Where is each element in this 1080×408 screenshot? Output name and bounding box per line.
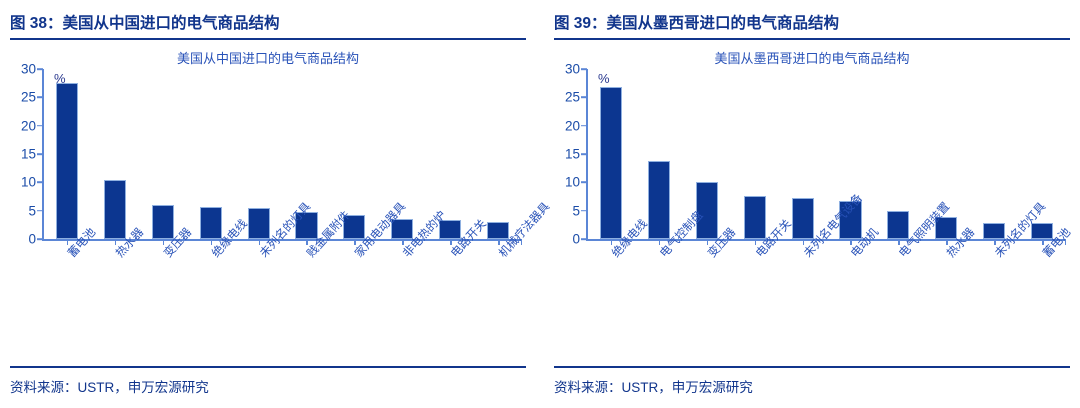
chart-area-39: 美国从墨西哥进口的电气商品结构 % 051015202530 绝缘电线电气控制盘… xyxy=(554,40,1070,366)
source-note-38: 资料来源：USTR，申万宏源研究 xyxy=(10,376,526,396)
bar xyxy=(600,87,622,239)
figure-header-38: 图 38：美国从中国进口的电气商品结构 xyxy=(10,0,526,40)
x-label-cell: 未列名的灯具 xyxy=(235,247,283,352)
x-label-cell: 电气照明装置 xyxy=(874,247,922,352)
footer-divider-38 xyxy=(10,366,526,368)
figure-header-39: 图 39：美国从墨西哥进口的电气商品结构 xyxy=(554,0,1070,40)
plot-38: % 051015202530 蓄电池热水器变压器绝缘电线未列名的灯具贱金属附件家… xyxy=(10,69,526,254)
bar-column xyxy=(91,69,139,239)
bar-column xyxy=(587,69,635,239)
x-label-cell: 蓄电池 xyxy=(1018,247,1066,352)
bar-column xyxy=(474,69,522,239)
y-tick-label: 30 xyxy=(21,62,36,76)
chart-title-38: 美国从中国进口的电气商品结构 xyxy=(10,40,526,67)
figure-footer-39: 资料来源：USTR，申万宏源研究 xyxy=(554,366,1070,408)
bar xyxy=(887,211,909,239)
bar-column xyxy=(139,69,187,239)
figure-panel-39: 图 39：美国从墨西哥进口的电气商品结构 美国从墨西哥进口的电气商品结构 % 0… xyxy=(540,0,1080,408)
x-label-cell: 未列名电气设备 xyxy=(779,247,827,352)
y-tick-mark xyxy=(37,125,43,127)
x-label-cell: 电路开关 xyxy=(731,247,779,352)
y-tick-label: 15 xyxy=(21,147,36,161)
bar xyxy=(152,205,174,239)
x-label-cell: 非电热的炉 xyxy=(378,247,426,352)
figure-panel-38: 图 38：美国从中国进口的电气商品结构 美国从中国进口的电气商品结构 % 051… xyxy=(0,0,540,408)
bar-column xyxy=(187,69,235,239)
x-axis-labels-38: 蓄电池热水器变压器绝缘电线未列名的灯具贱金属附件家用电动器具非电热的炉电路开关机… xyxy=(43,247,522,352)
y-tick-label: 20 xyxy=(565,119,580,133)
x-label-cell: 绝缘电线 xyxy=(187,247,235,352)
bar-series-38 xyxy=(43,69,522,239)
y-axis-labels-38: 051015202530 xyxy=(10,69,36,239)
y-tick-label: 5 xyxy=(572,204,580,218)
y-tick-mark xyxy=(37,238,43,240)
y-tick-label: 0 xyxy=(28,232,36,246)
x-label-cell: 热水器 xyxy=(922,247,970,352)
footer-divider-39 xyxy=(554,366,1070,368)
bar xyxy=(248,208,270,239)
y-tick-mark xyxy=(581,125,587,127)
bar-column xyxy=(779,69,827,239)
y-axis-labels-39: 051015202530 xyxy=(554,69,580,239)
bar xyxy=(744,196,766,239)
bar-column xyxy=(235,69,283,239)
x-axis-labels-39: 绝缘电线电气控制盘变压器电路开关未列名电气设备电动机电气照明装置热水器未列名的灯… xyxy=(587,247,1066,352)
bar xyxy=(104,180,126,240)
bar xyxy=(792,198,814,239)
source-note-39: 资料来源：USTR，申万宏源研究 xyxy=(554,376,1070,396)
x-label-cell: 家用电动器具 xyxy=(330,247,378,352)
x-label-cell: 绝缘电线 xyxy=(587,247,635,352)
x-label-cell: 蓄电池 xyxy=(43,247,91,352)
x-label-cell: 电路开关 xyxy=(426,247,474,352)
plot-39: % 051015202530 绝缘电线电气控制盘变压器电路开关未列名电气设备电动… xyxy=(554,69,1070,254)
y-tick-mark xyxy=(581,97,587,99)
y-tick-label: 0 xyxy=(572,232,580,246)
y-tick-mark xyxy=(37,182,43,184)
y-tick-label: 5 xyxy=(28,204,36,218)
y-tick-label: 30 xyxy=(565,62,580,76)
x-label-cell: 电动机 xyxy=(827,247,875,352)
bar-column xyxy=(874,69,922,239)
y-tick-mark xyxy=(581,210,587,212)
chart-area-38: 美国从中国进口的电气商品结构 % 051015202530 蓄电池热水器变压器绝… xyxy=(10,40,526,366)
y-tick-label: 15 xyxy=(565,147,580,161)
y-tick-label: 10 xyxy=(21,176,36,190)
y-tick-mark xyxy=(581,182,587,184)
bar-series-39 xyxy=(587,69,1066,239)
x-label-cell: 未列名的灯具 xyxy=(970,247,1018,352)
bar-column xyxy=(43,69,91,239)
x-label-cell: 变压器 xyxy=(683,247,731,352)
x-label-cell: 电气控制盘 xyxy=(635,247,683,352)
y-tick-mark xyxy=(37,210,43,212)
bar xyxy=(200,207,222,239)
x-label-cell: 变压器 xyxy=(139,247,187,352)
x-label-cell: 热水器 xyxy=(91,247,139,352)
bar-column xyxy=(731,69,779,239)
y-tick-mark xyxy=(581,68,587,70)
figure-row: 图 38：美国从中国进口的电气商品结构 美国从中国进口的电气商品结构 % 051… xyxy=(0,0,1080,408)
x-label-cell: 贱金属附件 xyxy=(283,247,331,352)
y-tick-label: 20 xyxy=(21,119,36,133)
bar-column xyxy=(635,69,683,239)
bar xyxy=(648,161,670,239)
figure-title-39: 图 39：美国从墨西哥进口的电气商品结构 xyxy=(554,11,1070,38)
figure-footer-38: 资料来源：USTR，申万宏源研究 xyxy=(10,366,526,408)
y-tick-label: 25 xyxy=(21,91,36,105)
figure-title-38: 图 38：美国从中国进口的电气商品结构 xyxy=(10,11,526,38)
y-tick-mark xyxy=(581,153,587,155)
bar-column xyxy=(970,69,1018,239)
y-tick-label: 10 xyxy=(565,176,580,190)
y-tick-mark xyxy=(37,153,43,155)
bar xyxy=(56,83,78,239)
chart-title-39: 美国从墨西哥进口的电气商品结构 xyxy=(554,40,1070,67)
y-tick-mark xyxy=(581,238,587,240)
y-tick-mark xyxy=(37,97,43,99)
x-label-cell: 机械疗法器具 xyxy=(474,247,522,352)
y-tick-mark xyxy=(37,68,43,70)
y-tick-label: 25 xyxy=(565,91,580,105)
